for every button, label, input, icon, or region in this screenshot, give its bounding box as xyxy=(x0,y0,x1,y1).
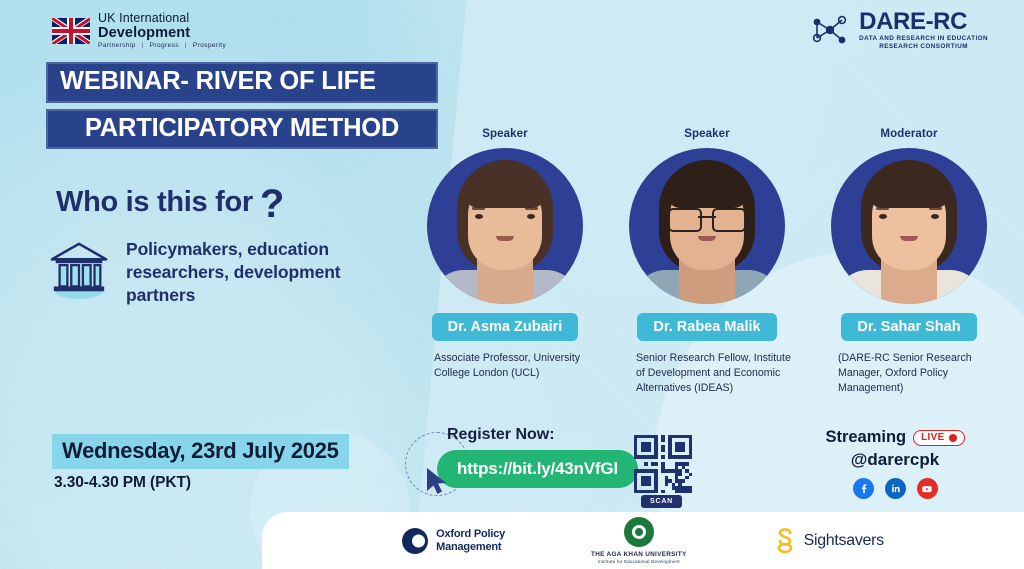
speaker-affiliation-1: Senior Research Fellow, Institute of Dev… xyxy=(618,351,796,396)
audience-description: Policymakers, education researchers, dev… xyxy=(126,238,388,307)
uk-logo-tagline: Partnership|Progress|Prosperity xyxy=(98,43,226,50)
question-mark-icon: ? xyxy=(260,188,284,220)
speaker-role-1: Speaker xyxy=(684,128,729,140)
speaker-affiliation-2: (DARE-RC Senior Research Manager, Oxford… xyxy=(820,351,998,396)
footer-partners: Oxford Policy Management THE AGA KHAN UN… xyxy=(262,512,1024,569)
speaker-name-2: Dr. Sahar Shah xyxy=(841,313,976,341)
dare-rc-subtitle-1: DATA AND RESEARCH IN EDUCATION xyxy=(859,36,988,42)
streaming-label: Streaming xyxy=(825,428,906,447)
dare-rc-logo: DARE-RC DATA AND RESEARCH IN EDUCATION R… xyxy=(808,10,988,50)
opm-line1: Oxford Policy xyxy=(436,528,505,541)
audience-heading-text: Who is this for xyxy=(56,188,253,217)
opm-line2: Management xyxy=(436,541,505,554)
network-nodes-icon xyxy=(808,13,850,47)
facebook-icon[interactable] xyxy=(853,478,874,499)
scan-label: SCAN xyxy=(641,495,682,508)
title-line-1: WEBINAR- RIVER OF LIFE xyxy=(46,62,438,103)
opm-logo-icon: Oxford Policy Management xyxy=(402,528,505,554)
speaker-card-0: Speaker Dr. Asma Zubairi Associate Profe… xyxy=(404,128,606,396)
uk-tagline-3: Prosperity xyxy=(193,42,226,49)
dare-rc-title: DARE-RC xyxy=(859,10,988,34)
live-badge-text: LIVE xyxy=(921,432,944,443)
audience-heading: Who is this for ? xyxy=(56,188,284,220)
speaker-portrait-icon xyxy=(629,148,785,304)
youtube-icon[interactable] xyxy=(917,478,938,499)
title-line-2: PARTICIPATORY METHOD xyxy=(46,109,438,150)
qr-code-icon[interactable] xyxy=(634,435,692,493)
sightsavers-logo-icon: Sightsavers xyxy=(773,528,884,554)
live-dot-icon xyxy=(949,434,957,442)
webinar-title: WEBINAR- RIVER OF LIFE PARTICIPATORY MET… xyxy=(46,62,438,149)
union-jack-icon xyxy=(52,18,90,44)
event-time: 3.30-4.30 PM (PKT) xyxy=(54,474,191,492)
uk-international-development-logo: UK International Development Partnership… xyxy=(52,12,226,50)
streaming-block: Streaming LIVE @darercpk xyxy=(805,428,985,499)
speaker-role-0: Speaker xyxy=(482,128,527,140)
social-handle: @darercpk xyxy=(805,450,985,470)
uk-tagline-1: Partnership xyxy=(98,42,136,49)
cursor-arrow-icon xyxy=(424,466,450,496)
uk-tagline-2: Progress xyxy=(150,42,179,49)
uk-logo-line2: Development xyxy=(98,26,226,41)
live-badge: LIVE xyxy=(913,430,964,446)
sightsavers-text: Sightsavers xyxy=(804,532,884,550)
register-link-button[interactable]: https://bit.ly/43nVfGl xyxy=(437,450,638,488)
speaker-portrait-icon xyxy=(427,148,583,304)
dare-rc-subtitle-2: RESEARCH CONSORTIUM xyxy=(859,44,988,50)
register-url: https://bit.ly/43nVfGl xyxy=(457,459,618,478)
event-date: Wednesday, 23rd July 2025 xyxy=(52,434,349,469)
speaker-affiliation-0: Associate Professor, University College … xyxy=(416,351,594,381)
speaker-card-1: Speaker Dr. Rabea Malik Senior Research … xyxy=(606,128,808,396)
event-date-text: Wednesday, 23rd July 2025 xyxy=(62,438,339,463)
moderator-portrait-icon xyxy=(831,148,987,304)
speakers-row: Speaker Dr. Asma Zubairi Associate Profe… xyxy=(404,128,1010,396)
audience-block: Policymakers, education researchers, dev… xyxy=(48,238,388,307)
uk-logo-line1: UK International xyxy=(98,12,226,25)
linkedin-icon[interactable] xyxy=(885,478,906,499)
speaker-name-0: Dr. Asma Zubairi xyxy=(432,313,579,341)
webinar-poster: UK International Development Partnership… xyxy=(0,0,1024,569)
social-links xyxy=(805,478,985,499)
institution-bank-icon xyxy=(48,238,110,300)
eyeglasses-icon xyxy=(668,208,746,228)
register-label: Register Now: xyxy=(447,426,555,444)
speaker-name-1: Dr. Rabea Malik xyxy=(637,313,776,341)
speaker-role-2: Moderator xyxy=(880,128,937,140)
speaker-card-2: Moderator Dr. Sahar Shah (DARE-RC Senior… xyxy=(808,128,1010,396)
aku-logo-icon: THE AGA KHAN UNIVERSITY Institute for Ed… xyxy=(591,517,687,565)
aku-line2: Institute for Educational Development xyxy=(598,559,680,564)
aku-line1: THE AGA KHAN UNIVERSITY xyxy=(591,551,687,558)
